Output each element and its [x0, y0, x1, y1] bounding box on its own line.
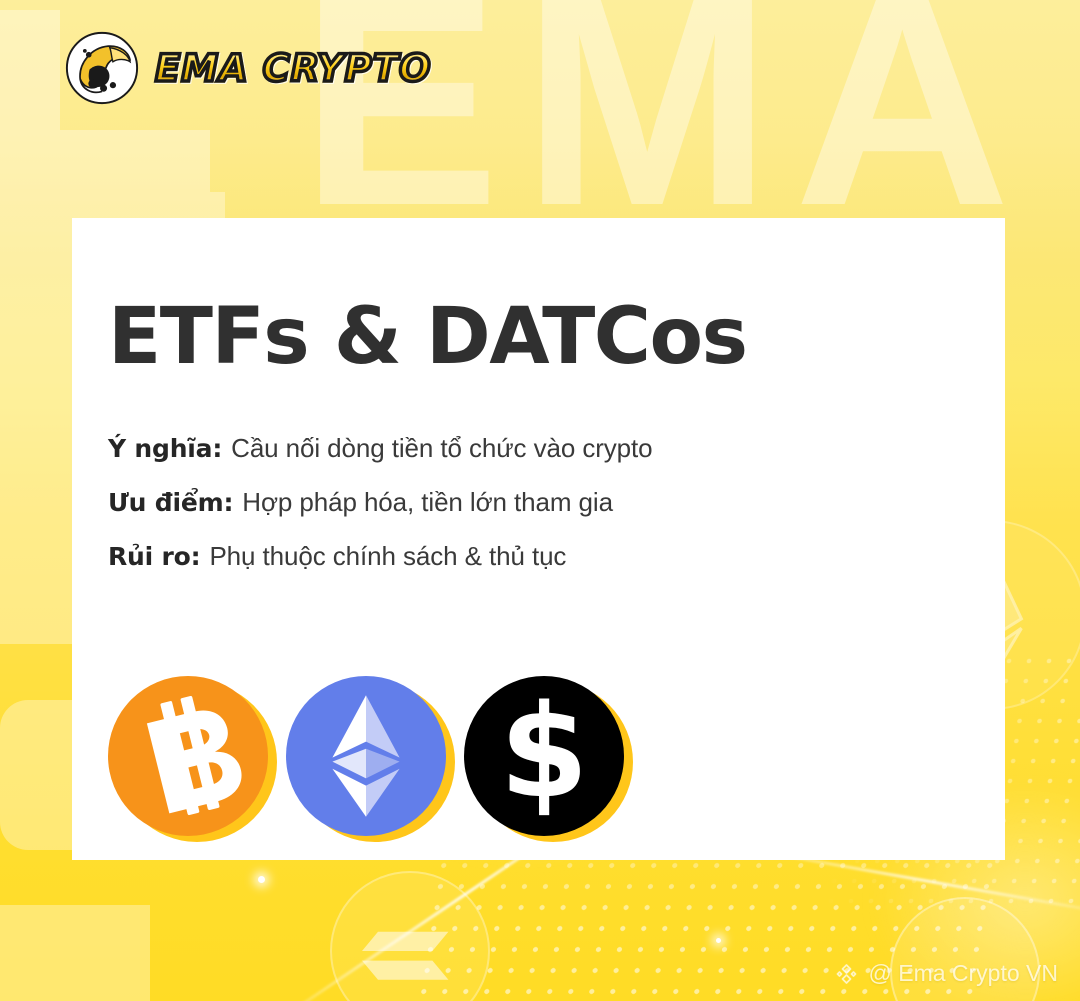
watermark-text: @ Ema Crypto VN	[868, 960, 1058, 987]
fact-label: Rủi ro:	[108, 542, 200, 571]
koi-phoenix-emblem-icon	[63, 28, 141, 108]
background-spark	[716, 938, 721, 943]
poster-canvas: EMA	[0, 0, 1080, 1001]
bitcoin-coin-icon	[108, 676, 268, 836]
fact-value: Hợp pháp hóa, tiền lớn tham gia	[242, 487, 613, 518]
fact-row-meaning: Ý nghĩa: Cầu nối dòng tiền tổ chức vào c…	[108, 433, 968, 464]
ethereum-coin-icon	[286, 676, 446, 836]
fact-row-advantage: Ưu điểm: Hợp pháp hóa, tiền lớn tham gia	[108, 487, 968, 518]
fact-label: Ưu điểm:	[108, 488, 233, 517]
binance-diamond-icon	[834, 961, 859, 986]
fact-value: Cầu nối dòng tiền tổ chức vào crypto	[231, 433, 652, 464]
fact-value: Phụ thuộc chính sách & thủ tục	[209, 541, 566, 572]
fact-label: Ý nghĩa:	[108, 434, 222, 463]
background-spark	[258, 876, 265, 883]
dollar-sign-glyph: $	[499, 689, 588, 817]
brand-header: EMA CRYPTO	[63, 28, 431, 108]
page-title: ETFs & DATCos	[108, 298, 747, 376]
fact-row-risk: Rủi ro: Phụ thuộc chính sách & thủ tục	[108, 541, 968, 572]
brand-name: EMA CRYPTO	[155, 50, 431, 87]
watermark: @ Ema Crypto VN	[834, 960, 1058, 987]
coin-row: $	[108, 676, 624, 836]
content-card: ETFs & DATCos Ý nghĩa: Cầu nối dòng tiền…	[72, 218, 1005, 860]
fact-list: Ý nghĩa: Cầu nối dòng tiền tổ chức vào c…	[108, 433, 968, 595]
dollar-coin-icon: $	[464, 676, 624, 836]
